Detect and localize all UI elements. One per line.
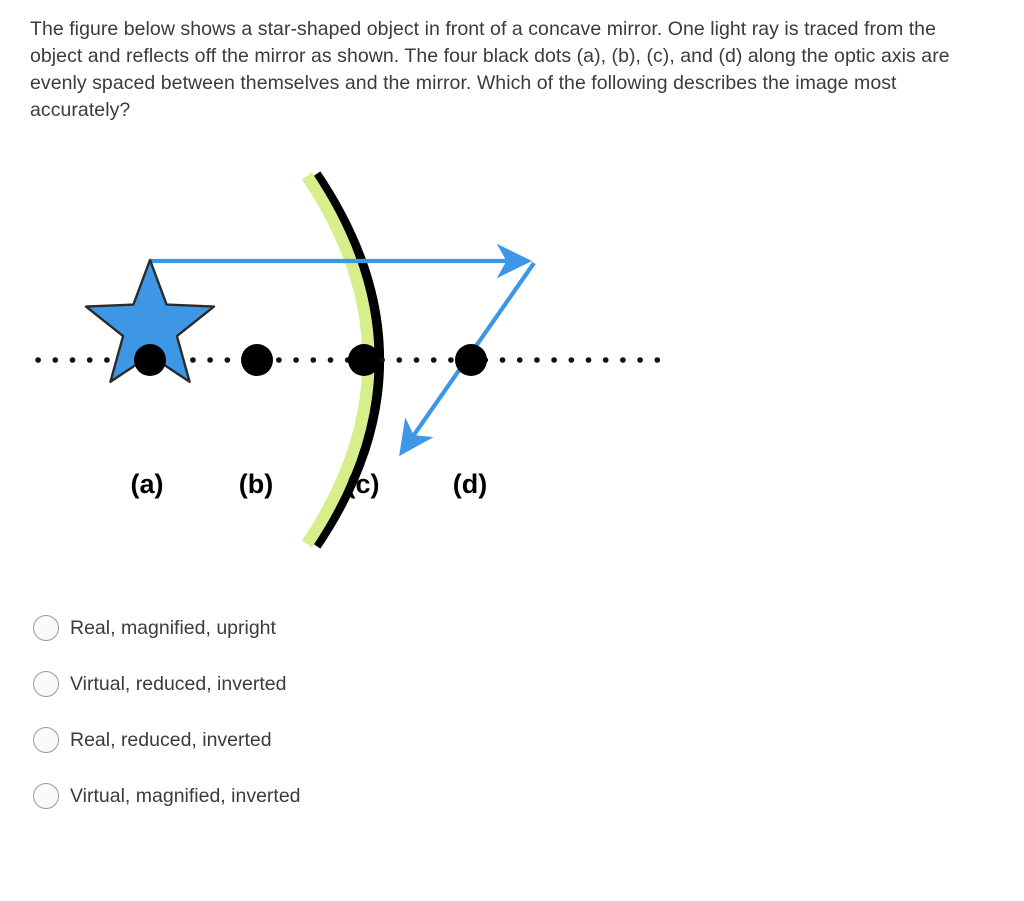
axis-dot-a	[134, 344, 166, 376]
answer-option-label-3: Real, reduced, inverted	[70, 727, 272, 753]
axis-dot-label-a: (a)	[131, 469, 164, 499]
question-prompt: The figure below shows a star-shaped obj…	[30, 16, 990, 124]
answer-option-4[interactable]: Virtual, magnified, inverted	[33, 768, 733, 824]
axis-dot-c	[348, 344, 380, 376]
answer-option-1[interactable]: Real, magnified, upright	[33, 600, 733, 656]
axis-dot-label-d: (d)	[453, 469, 487, 499]
ray-diagram-svg: (a) (b) (c) (d)	[0, 160, 700, 580]
answer-option-label-2: Virtual, reduced, inverted	[70, 671, 286, 697]
axis-dot-label-c: (c)	[347, 469, 380, 499]
ray-diagram-figure: (a) (b) (c) (d)	[0, 160, 700, 580]
axis-dot-b	[241, 344, 273, 376]
axis-dot-d	[455, 344, 487, 376]
radio-button-4[interactable]	[33, 783, 59, 809]
radio-button-3[interactable]	[33, 727, 59, 753]
radio-button-2[interactable]	[33, 671, 59, 697]
axis-dot-label-b: (b)	[239, 469, 273, 499]
answer-option-2[interactable]: Virtual, reduced, inverted	[33, 656, 733, 712]
question-root: The figure below shows a star-shaped obj…	[0, 0, 1024, 901]
answer-option-3[interactable]: Real, reduced, inverted	[33, 712, 733, 768]
answer-options-list: Real, magnified, upright Virtual, reduce…	[33, 600, 733, 824]
answer-option-label-1: Real, magnified, upright	[70, 615, 276, 641]
answer-option-label-4: Virtual, magnified, inverted	[70, 783, 301, 809]
radio-button-1[interactable]	[33, 615, 59, 641]
